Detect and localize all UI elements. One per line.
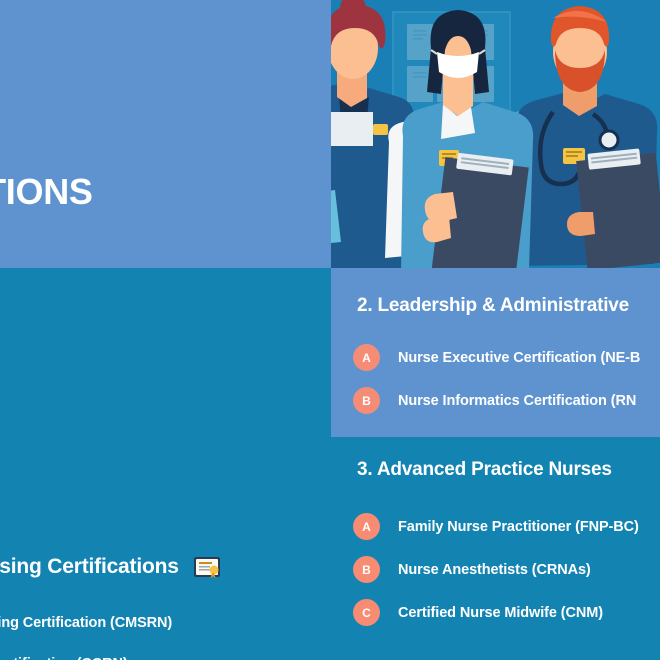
three-nurses-illustration — [331, 0, 660, 268]
list-item: A Family Nurse Practitioner (FNP-BC) — [353, 505, 660, 548]
section-3-title: 3. Advanced Practice Nurses — [357, 459, 612, 481]
list-item: C Certified Nurse Midwife (CNM) — [353, 591, 660, 634]
title-line-4: UGH — [0, 135, 324, 174]
title-line-2: NG — [0, 57, 324, 96]
item-badge: A — [353, 513, 380, 540]
section-1-header: ed Nursing Certifications — [0, 555, 331, 579]
certificate-icon — [193, 556, 221, 578]
page-title: g Your NG ER UGH FICATIONS — [0, 26, 324, 213]
item-label: Family Nurse Practitioner (FNP-BC) — [398, 519, 639, 535]
item-label: Nurse Informatics Certification (RN — [398, 393, 636, 409]
hero-band: g Your NG ER UGH FICATIONS — [0, 0, 660, 268]
title-line-1: g Your — [0, 26, 324, 57]
title-line-5: FICATIONS — [0, 174, 324, 213]
section-3-panel: 3. Advanced Practice Nurses A Family Nur… — [331, 437, 660, 660]
list-item: B Nurse Informatics Certification (RN — [353, 379, 660, 422]
item-label: Nurse Executive Certification (NE-B — [398, 350, 640, 366]
list-item: A Nurse Executive Certification (NE-B — [353, 336, 660, 379]
section-2-list: A Nurse Executive Certification (NE-B B … — [353, 336, 660, 422]
item-badge: A — [353, 344, 380, 371]
section-1-title: ed Nursing Certifications — [0, 555, 179, 579]
section-3-list: A Family Nurse Practitioner (FNP-BC) B N… — [353, 505, 660, 634]
list-item: re Nursing Certification (CCRN) — [0, 655, 331, 660]
section-2-title: 2. Leadership & Administrative — [357, 295, 629, 317]
hero-title-panel: g Your NG ER UGH FICATIONS — [0, 0, 331, 268]
item-badge: B — [353, 556, 380, 583]
section-1-panel: CONGRATULATION! ed Nursing Certification… — [0, 268, 331, 660]
infographic-page: g Your NG ER UGH FICATIONS — [0, 0, 660, 660]
item-badge: B — [353, 387, 380, 414]
item-label: Nurse Anesthetists (CRNAs) — [398, 562, 591, 578]
list-item: urgical Nursing Certification (CMSRN) — [0, 614, 331, 655]
section-2-panel: 2. Leadership & Administrative A Nurse E… — [331, 268, 660, 437]
item-badge: C — [353, 599, 380, 626]
section-1-list: urgical Nursing Certification (CMSRN) re… — [0, 614, 331, 660]
item-label: Certified Nurse Midwife (CNM) — [398, 605, 603, 621]
list-item: B Nurse Anesthetists (CRNAs) — [353, 548, 660, 591]
title-line-3: ER — [0, 96, 324, 135]
